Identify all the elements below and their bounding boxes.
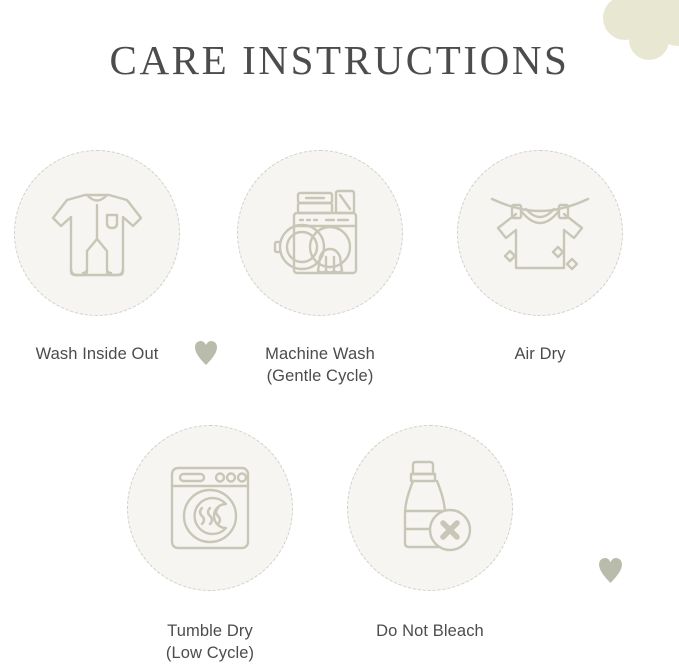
- label-line-1: Tumble Dry: [167, 622, 253, 640]
- label-line-1: Machine Wash: [265, 345, 375, 363]
- instruction-label-do-not-bleach: Do Not Bleach: [340, 620, 520, 642]
- label-line-1: Do Not Bleach: [376, 622, 484, 640]
- instruction-badge-air-dry: [457, 150, 623, 316]
- instruction-label-machine-wash: Machine Wash (Gentle Cycle): [230, 343, 410, 387]
- clothesline-shirt-icon: [488, 181, 592, 285]
- label-line-1: Air Dry: [514, 345, 565, 363]
- onesie-icon: [45, 181, 149, 285]
- heart-icon: [598, 557, 623, 584]
- instruction-badge-do-not-bleach: [347, 425, 513, 591]
- heart-corner-decoration: [598, 557, 623, 589]
- title-container: CARE INSTRUCTIONS: [0, 40, 679, 81]
- instruction-label-air-dry: Air Dry: [450, 343, 630, 365]
- heart-divider-decoration: [194, 340, 218, 371]
- label-line-2: (Gentle Cycle): [230, 365, 410, 387]
- instruction-badge-tumble-dry: [127, 425, 293, 591]
- instruction-badge-machine-wash: [237, 150, 403, 316]
- tumble-dryer-icon: [158, 456, 262, 560]
- instruction-badge-wash-inside-out: [14, 150, 180, 316]
- washing-machine-icon: [268, 181, 372, 285]
- label-line-1: Wash Inside Out: [36, 345, 159, 363]
- no-bleach-bottle-icon: [378, 456, 482, 560]
- label-line-2: (Low Cycle): [120, 642, 300, 664]
- page-title: CARE INSTRUCTIONS: [0, 40, 679, 81]
- instruction-label-tumble-dry: Tumble Dry (Low Cycle): [120, 620, 300, 664]
- instruction-label-wash-inside-out: Wash Inside Out: [7, 343, 187, 365]
- heart-icon: [194, 340, 218, 366]
